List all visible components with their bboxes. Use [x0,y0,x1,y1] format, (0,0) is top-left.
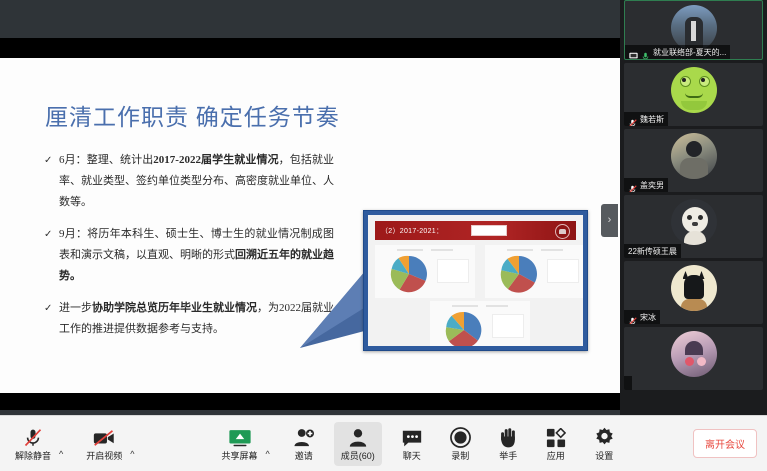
participant-name: 盖奕男 [640,180,664,191]
participant-name-bar: 22新传硕王晨 [624,244,681,258]
participant-tile[interactable]: 魏若斯 [624,63,763,126]
participant-video-strip[interactable]: 就业联络部-夏天的... 魏若斯 [620,0,767,415]
toolbar-button-label: 解除静音 [15,451,51,461]
toolbar-button-invite[interactable]: 邀请 [286,422,322,466]
toolbar-button-label: 邀请 [295,451,313,461]
stage-black-band-bottom [0,393,620,410]
presentation-slide: 厘清工作职责 确定任务节奏 ✓ 6月：整理、统计出2017-2022届学生就业情… [0,58,620,393]
apps-grid-icon [546,428,566,448]
toolbar-items: 解除静音 ^ 开启视频 ^ [8,416,622,471]
participant-name-bar: 宋冰 [624,310,660,324]
mic-muted-icon [628,115,637,124]
mic-muted-icon [23,428,43,448]
embedded-screenshot: （2）2017-2021： [363,210,588,351]
embedded-header-highlight [471,225,507,236]
participant-tile[interactable]: 盖奕男 [624,129,763,192]
meeting-toolbar: 解除静音 ^ 开启视频 ^ [0,415,767,471]
raise-hand-icon [499,428,518,448]
participant-tile[interactable]: 宋冰 [624,261,763,324]
camera-off-icon [93,428,115,448]
participant-name: 宋冰 [640,312,656,323]
leave-meeting-label: 离开会议 [705,440,745,451]
slide-bullet: ✓ 进一步协助学院总览历年毕业生就业情况，为2022届就业工作的推进提供数据参考… [44,298,334,340]
toolbar-button-label: 成员(60) [341,451,375,461]
zoom-meeting-window: 厘清工作职责 确定任务节奏 ✓ 6月：整理、统计出2017-2022届学生就业情… [0,0,767,471]
share-options-caret[interactable]: ^ [266,449,270,459]
toolbar-button-label: 设置 [595,451,613,461]
avatar [671,331,717,377]
avatar [671,67,717,113]
participant-name-bar: 盖奕男 [624,178,668,192]
checkmark-icon: ✓ [44,298,52,319]
toolbar-button-start-video[interactable]: 开启视频 [79,422,129,466]
slide-bullet: ✓ 9月：将历年本科生、硕士生、博士生的就业情况制成图表和演示文稿，以直观、明晰… [44,224,334,287]
participant-tile[interactable] [624,327,763,390]
share-screen-icon [228,428,252,448]
mic-muted-icon [628,313,637,322]
participant-name: 22新传硕王晨 [628,246,677,257]
toolbar-button-raise-hand[interactable]: 举手 [492,422,525,466]
slide-bullet-list: ✓ 6月：整理、统计出2017-2022届学生就业情况，包括就业率、就业类型、签… [44,150,334,351]
mic-muted-icon [628,181,637,190]
screen-share-icon [629,48,638,57]
participants-icon [347,428,369,448]
participant-name-bar: 就业联络部-夏天的... [625,45,730,59]
slide-bullet-text: 9月：将历年本科生、硕士生、博士生的就业情况制成图表和演示文稿，以直观、明晰的形… [59,228,334,282]
stage-black-band-top [0,38,620,58]
shared-screen-stage: 厘清工作职责 确定任务节奏 ✓ 6月：整理、统计出2017-2022届学生就业情… [0,0,620,415]
university-seal-icon [555,224,570,239]
toolbar-button-label: 共享屏幕 [222,451,258,461]
slide-bullet-text: 6月：整理、统计出2017-2022届学生就业情况，包括就业率、就业类型、签约单… [59,154,334,208]
toolbar-button-label: 聊天 [403,451,421,461]
toolbar-button-apps[interactable]: 应用 [539,422,573,466]
checkmark-icon: ✓ [44,150,52,171]
participant-name: 就业联络部-夏天的... [653,47,726,58]
pie-chart-card [430,301,530,346]
embedded-header-title: （2）2017-2021： [381,226,443,236]
chat-bubble-icon [401,428,423,448]
pie-chart [444,310,484,346]
collapse-panel-handle[interactable]: › [601,204,618,237]
toolbar-button-label: 应用 [547,451,565,461]
invite-person-icon [293,428,315,448]
toolbar-button-chat[interactable]: 聊天 [394,422,430,466]
toolbar-button-share-screen[interactable]: 共享屏幕 [215,422,265,466]
avatar [671,199,717,245]
toolbar-button-label: 录制 [451,451,469,461]
toolbar-button-settings[interactable]: 设置 [587,422,622,466]
toolbar-button-label: 开启视频 [86,451,122,461]
toolbar-button-record[interactable]: 录制 [443,422,478,466]
participant-name-bar: 魏若斯 [624,112,668,126]
slide-bullet: ✓ 6月：整理、统计出2017-2022届学生就业情况，包括就业率、就业类型、签… [44,150,334,213]
video-options-caret[interactable]: ^ [130,449,134,459]
toolbar-button-participants[interactable]: 成员(60) [334,422,382,466]
embedded-screenshot-canvas: （2）2017-2021： [368,215,583,346]
slide-title: 厘清工作职责 确定任务节奏 [45,98,340,132]
mic-options-caret[interactable]: ^ [59,449,63,459]
pie-chart [389,254,429,294]
avatar [671,133,717,179]
callout-arrow-shape [300,263,372,348]
participant-tile[interactable]: 22新传硕王晨 [624,195,763,258]
pie-chart-card [485,245,583,298]
checkmark-icon: ✓ [44,224,52,245]
pie-chart-card [375,245,475,298]
participant-name: 魏若斯 [640,114,664,125]
embedded-header-bar: （2）2017-2021： [375,221,576,240]
participant-tile[interactable]: 就业联络部-夏天的... [624,0,763,60]
toolbar-button-unmute[interactable]: 解除静音 [8,422,58,466]
leave-meeting-button[interactable]: 离开会议 [693,429,757,458]
chevron-right-icon: › [608,215,612,226]
avatar [671,265,717,311]
toolbar-button-label: 举手 [499,451,517,461]
slide-bullet-text: 进一步协助学院总览历年毕业生就业情况，为2022届就业工作的推进提供数据参考与支… [59,302,334,335]
record-circle-icon [450,428,471,448]
stage-letterbox-top [0,0,620,38]
gear-icon [594,428,615,448]
pie-chart [499,254,539,294]
participant-name-bar [624,376,632,390]
mic-on-icon [641,48,650,57]
